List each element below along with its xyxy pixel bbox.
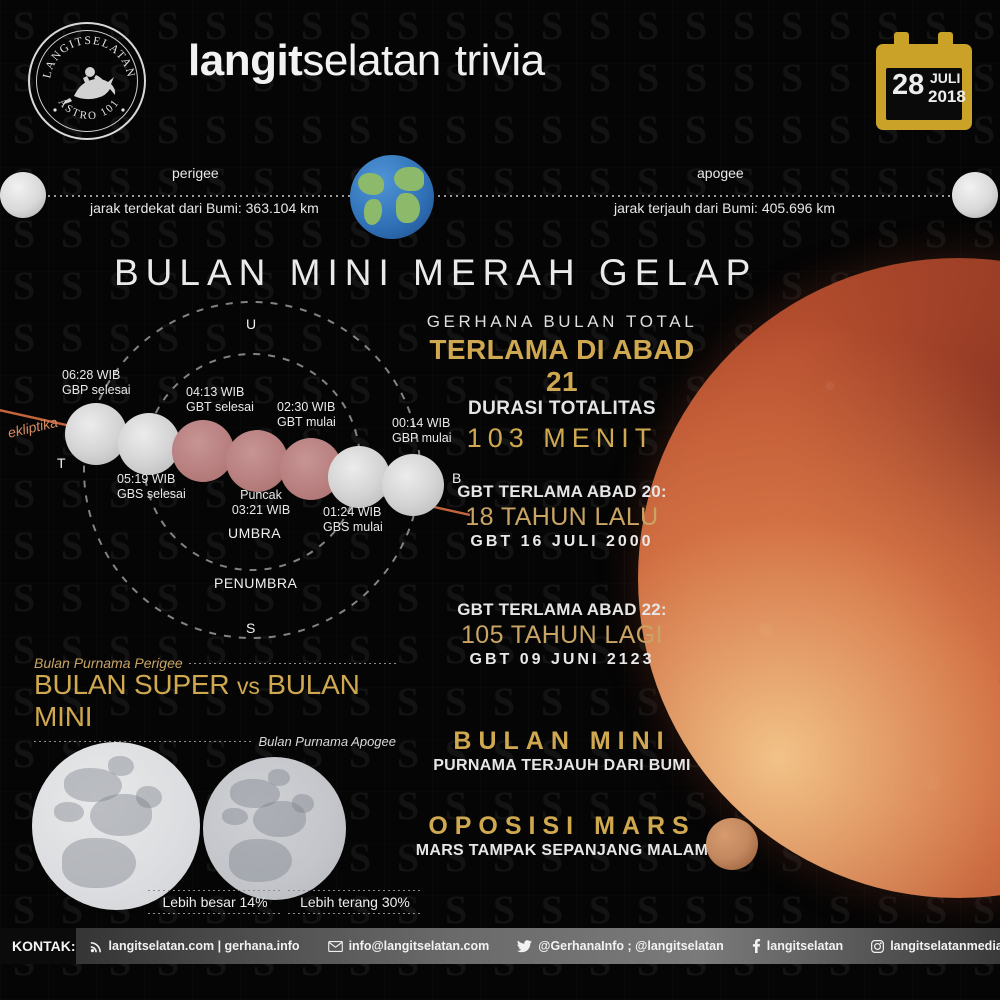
fact4-value: 105 TAHUN LAGI <box>412 621 712 650</box>
fact-block-oposisi-mars: OPOSISI MARS MARS TAMPAK SEPANJANG MALAM <box>412 812 712 860</box>
langitselatan-logo: LANGITSELATAN ASTRO 101 <box>28 22 146 140</box>
mark-s: S <box>246 620 255 636</box>
stat-size-bar: Lebih besar 14% <box>148 890 282 912</box>
peak-text: Puncak <box>240 488 282 502</box>
phase-2-time: 04:13 WIB <box>186 385 244 399</box>
brand-part-1: langit <box>188 36 302 85</box>
comparison-rule-bottom <box>34 741 252 742</box>
fact4-kicker: GBT TERLAMA ABAD 22: <box>412 600 712 620</box>
umbra-label: UMBRA <box>228 525 281 541</box>
mars-planet-icon <box>706 818 758 870</box>
fact3-detail: GBT 16 JULI 2000 <box>412 533 712 551</box>
comparison-title: BULAN SUPER vs BULAN MINI <box>34 669 396 733</box>
fact6-detail: MARS TAMPAK SEPANJANG MALAM <box>412 842 712 860</box>
rss-icon <box>90 940 103 953</box>
phase-1-time: 05:19 WIB <box>117 472 175 486</box>
orbit-dotted-line <box>0 195 1000 197</box>
comparison-title-a: BULAN SUPER <box>34 669 229 700</box>
super-moon-illustration <box>32 742 200 910</box>
peak-time: 03:21 WIB <box>232 503 290 517</box>
calendar-body: 28 JULI 2018 <box>876 44 972 130</box>
brand-part-2: selatan <box>302 36 440 85</box>
calendar-icon: 28 JULI 2018 <box>876 30 972 130</box>
twitter-icon <box>517 940 532 953</box>
contact-item-instagram[interactable]: langitselatanmedia <box>857 939 1000 953</box>
fact-block-bulan-mini: BULAN MINI PURNAMA TERJAUH DARI BUMI <box>412 727 712 775</box>
comparison-title-vs: vs <box>237 673 260 699</box>
calendar-year: 2018 <box>928 88 966 105</box>
stat-size-text: Lebih besar 14% <box>148 891 282 913</box>
perigee-moon-icon <box>0 172 46 218</box>
contact-footer: KONTAK: langitselatan.com | gerhana.info… <box>0 928 1000 964</box>
eclipse-moon-1 <box>65 403 127 465</box>
phase-2-event: GBT selesai <box>186 400 254 414</box>
fact3-kicker: GBT TERLAMA ABAD 20: <box>412 482 712 502</box>
logo-emblem-icon: LANGITSELATAN ASTRO 101 <box>30 24 148 142</box>
eclipse-moon-4 <box>226 430 288 492</box>
fact-block-duration: DURASI TOTALITAS 103 MENIT <box>412 398 712 454</box>
fact4-detail: GBT 09 JUNI 2123 <box>412 651 712 669</box>
brand-wordmark: langitselatantrivia <box>188 36 545 86</box>
eclipse-moon-6 <box>328 446 390 508</box>
fact-block-century-22: GBT TERLAMA ABAD 22: 105 TAHUN LAGI GBT … <box>412 600 712 669</box>
eclipse-moon-2 <box>118 413 180 475</box>
contact-item-facebook[interactable]: langitselatan <box>738 939 857 953</box>
comparison-bottom-caption: Bulan Purnama Apogee <box>258 734 396 749</box>
eclipse-path-diagram: ekliptika U S T B 06:28 WIB GBP selesai … <box>0 300 470 660</box>
penumbra-label: PENUMBRA <box>214 575 297 591</box>
phase-label-gbs-mulai: 01:24 WIB GBS mulai <box>323 505 383 535</box>
contact-instagram-text: langitselatanmedia <box>890 939 1000 953</box>
comparison-rule-top <box>189 663 396 664</box>
phase-label-gbt-selesai: 04:13 WIB GBT selesai <box>186 385 254 415</box>
phase-4-time: 01:24 WIB <box>323 505 381 519</box>
calendar-screen: 28 JULI 2018 <box>886 68 962 120</box>
contact-item-website[interactable]: langitselatan.com | gerhana.info <box>76 939 314 953</box>
apogee-moon-icon <box>952 172 998 218</box>
phase-3-event: GBT mulai <box>277 415 336 429</box>
contact-email-text: info@langitselatan.com <box>349 939 490 953</box>
fact6-value: OPOSISI MARS <box>412 812 712 841</box>
phase-1-event: GBS selesai <box>117 487 186 501</box>
stat-bright-bar: Lebih terang 30% <box>288 890 422 912</box>
mini-moon-illustration <box>203 757 346 900</box>
phase-label-gbt-mulai: 02:30 WIB GBT mulai <box>277 400 336 430</box>
fact-block-century-20: GBT TERLAMA ABAD 20: 18 TAHUN LALU GBT 1… <box>412 482 712 551</box>
stat-size-rule-bottom <box>148 913 282 914</box>
infographic-canvas: SSSSSSSSSSSSSSSSSSSSSSSSSSSSSSSSSSSSSSSS… <box>0 0 1000 1000</box>
brand-part-3: trivia <box>455 36 545 85</box>
calendar-day: 28 <box>892 71 924 100</box>
fact2-kicker: DURASI TOTALITAS <box>412 398 712 420</box>
apogee-detail: jarak terjauh dari Bumi: 405.696 km <box>614 200 835 216</box>
envelope-icon <box>328 941 343 952</box>
contact-item-email[interactable]: info@langitselatan.com <box>314 939 504 953</box>
facebook-icon <box>752 939 761 953</box>
phase-4-event: GBS mulai <box>323 520 383 534</box>
contact-website-text: langitselatan.com | gerhana.info <box>109 939 300 953</box>
fact1-value: TERLAMA DI ABAD 21 <box>412 334 712 398</box>
perigee-detail: jarak terdekat dari Bumi: 363.104 km <box>90 200 319 216</box>
fact5-detail: PURNAMA TERJAUH DARI BUMI <box>412 757 712 775</box>
calendar-month: JULI <box>930 71 960 86</box>
svg-text:ASTRO 101: ASTRO 101 <box>56 96 123 122</box>
mark-u: U <box>246 316 256 332</box>
contact-facebook-text: langitselatan <box>767 939 843 953</box>
fact2-value: 103 MENIT <box>412 423 712 454</box>
mark-t: T <box>57 455 66 471</box>
phase-3-time: 02:30 WIB <box>277 400 335 414</box>
contact-item-twitter[interactable]: @GerhanaInfo ; @langitselatan <box>503 939 738 953</box>
perigee-label: perigee <box>172 165 219 181</box>
fact-block-longest-century: GERHANA BULAN TOTAL TERLAMA DI ABAD 21 <box>412 312 712 398</box>
contact-label: KONTAK: <box>0 928 76 964</box>
stat-bright-rule-bottom <box>288 913 422 914</box>
earth-icon <box>350 155 434 239</box>
fact1-kicker: GERHANA BULAN TOTAL <box>412 312 712 332</box>
fact5-value: BULAN MINI <box>412 727 712 756</box>
phase-0-event: GBP selesai <box>62 383 131 397</box>
contact-twitter-text: @GerhanaInfo ; @langitselatan <box>538 939 724 953</box>
apogee-label: apogee <box>697 165 744 181</box>
super-vs-mini-heading: Bulan Purnama Perigee BULAN SUPER vs BUL… <box>34 655 396 749</box>
fact3-value: 18 TAHUN LALU <box>412 503 712 532</box>
phase-label-gbp-selesai: 06:28 WIB GBP selesai <box>62 368 131 398</box>
phase-label-gbs-selesai: 05:19 WIB GBS selesai <box>117 472 186 502</box>
phase-0-time: 06:28 WIB <box>62 368 120 382</box>
page-title: BULAN MINI MERAH GELAP <box>114 252 757 294</box>
instagram-icon <box>871 940 884 953</box>
peak-label: Puncak 03:21 WIB <box>226 488 296 518</box>
stat-bright-text: Lebih terang 30% <box>288 891 422 913</box>
